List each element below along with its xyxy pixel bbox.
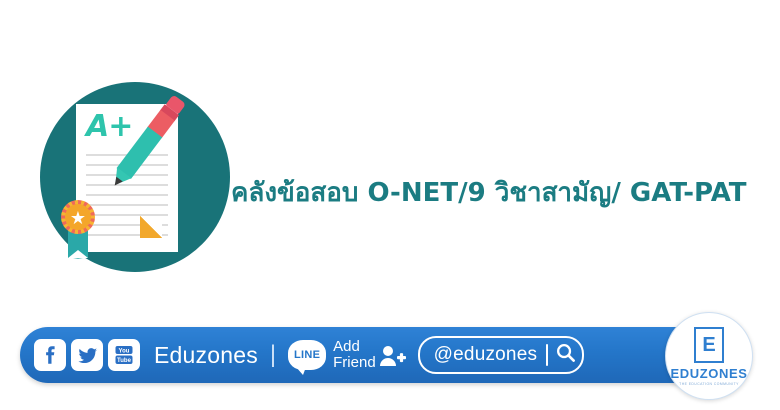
svg-text:Tube: Tube bbox=[117, 358, 132, 364]
search-handle-pill[interactable]: @eduzones bbox=[418, 336, 585, 374]
facebook-icon[interactable] bbox=[34, 339, 66, 371]
add-friend-line1: Add bbox=[333, 339, 376, 355]
exam-paper-illustration: A+ ★ bbox=[40, 82, 230, 272]
line-label: LINE bbox=[294, 349, 320, 361]
eduzones-logo-badge[interactable]: E EDUZONES THE EDUCATION COMMUNITY bbox=[665, 312, 753, 400]
star-icon: ★ bbox=[69, 209, 87, 227]
page-fold-corner-icon bbox=[140, 216, 162, 238]
svg-text:You: You bbox=[119, 348, 130, 354]
line-app-icon[interactable]: LINE bbox=[288, 340, 326, 370]
logo-letter: E bbox=[702, 335, 715, 355]
social-footer-bar: You Tube Eduzones | LINE Add Friend bbox=[20, 327, 736, 383]
award-rosette-icon: ★ bbox=[56, 200, 100, 258]
add-friend-line2: Friend bbox=[333, 355, 376, 371]
search-pill-divider bbox=[546, 344, 548, 366]
grade-a-plus-label: A+ bbox=[86, 112, 132, 142]
search-icon[interactable] bbox=[555, 342, 576, 368]
search-handle-text: @eduzones bbox=[434, 344, 538, 366]
logo-tagline: THE EDUCATION COMMUNITY bbox=[679, 382, 739, 386]
add-friend-label[interactable]: Add Friend bbox=[333, 339, 376, 371]
add-person-icon[interactable] bbox=[378, 344, 406, 373]
page-title: คลังข้อสอบ O-NET/9 วิชาสามัญ/ GAT-PAT bbox=[231, 172, 747, 213]
youtube-icon[interactable]: You Tube bbox=[108, 339, 140, 371]
bar-divider: | bbox=[270, 341, 276, 369]
twitter-icon[interactable] bbox=[71, 339, 103, 371]
page-canvas: A+ ★ คลังข้อสอบ O-NET/9 วิชาสามัญ/ GAT-P… bbox=[0, 0, 780, 410]
brand-name-label: Eduzones bbox=[154, 342, 258, 369]
logo-wordmark: EDUZONES bbox=[670, 367, 747, 380]
logo-letter-mark: E bbox=[694, 327, 724, 363]
